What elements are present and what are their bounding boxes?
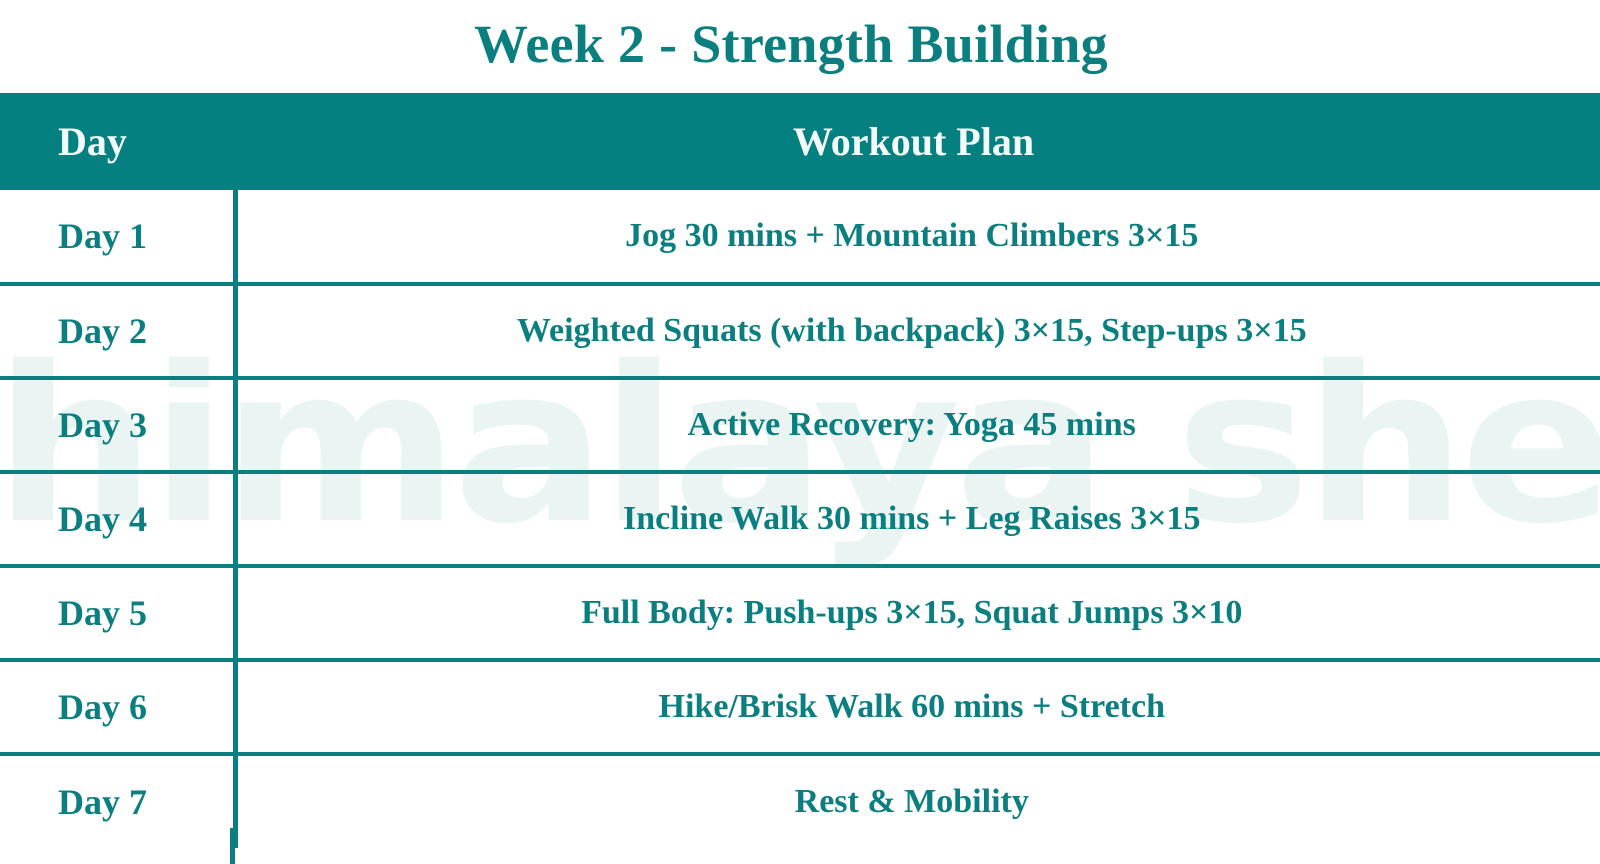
workout-plan-table: Day Workout Plan Day 1 Jog 30 mins + Mou… [0, 93, 1600, 848]
column-header-workout-plan: Workout Plan [235, 93, 1600, 190]
cell-workout-plan: Weighted Squats (with backpack) 3×15, St… [235, 284, 1600, 378]
cell-workout-plan: Incline Walk 30 mins + Leg Raises 3×15 [235, 472, 1600, 566]
column-header-day: Day [0, 93, 235, 190]
cell-day: Day 7 [0, 754, 235, 848]
cell-day: Day 3 [0, 378, 235, 472]
cell-day: Day 6 [0, 660, 235, 754]
cell-workout-plan: Rest & Mobility [235, 754, 1600, 848]
table-row: Day 1 Jog 30 mins + Mountain Climbers 3×… [0, 190, 1600, 284]
cell-day: Day 2 [0, 284, 235, 378]
cell-day: Day 5 [0, 566, 235, 660]
cell-workout-plan: Jog 30 mins + Mountain Climbers 3×15 [235, 190, 1600, 284]
table-row: Day 3 Active Recovery: Yoga 45 mins [0, 378, 1600, 472]
table-header-row: Day Workout Plan [0, 93, 1600, 190]
cell-day: Day 4 [0, 472, 235, 566]
table-row: Day 7 Rest & Mobility [0, 754, 1600, 848]
table-row: Day 5 Full Body: Push-ups 3×15, Squat Ju… [0, 566, 1600, 660]
table-row: Day 6 Hike/Brisk Walk 60 mins + Stretch [0, 660, 1600, 754]
workout-plan-page: Week 2 - Strength Building Day Workout P… [0, 0, 1600, 864]
column-divider-line [230, 828, 235, 864]
table-row: Day 2 Weighted Squats (with backpack) 3×… [0, 284, 1600, 378]
cell-workout-plan: Active Recovery: Yoga 45 mins [235, 378, 1600, 472]
table-body: Day 1 Jog 30 mins + Mountain Climbers 3×… [0, 190, 1600, 848]
table-header: Day Workout Plan [0, 93, 1600, 190]
page-title: Week 2 - Strength Building [0, 6, 1600, 82]
cell-day: Day 1 [0, 190, 235, 284]
table-row: Day 4 Incline Walk 30 mins + Leg Raises … [0, 472, 1600, 566]
cell-workout-plan: Full Body: Push-ups 3×15, Squat Jumps 3×… [235, 566, 1600, 660]
cell-workout-plan: Hike/Brisk Walk 60 mins + Stretch [235, 660, 1600, 754]
